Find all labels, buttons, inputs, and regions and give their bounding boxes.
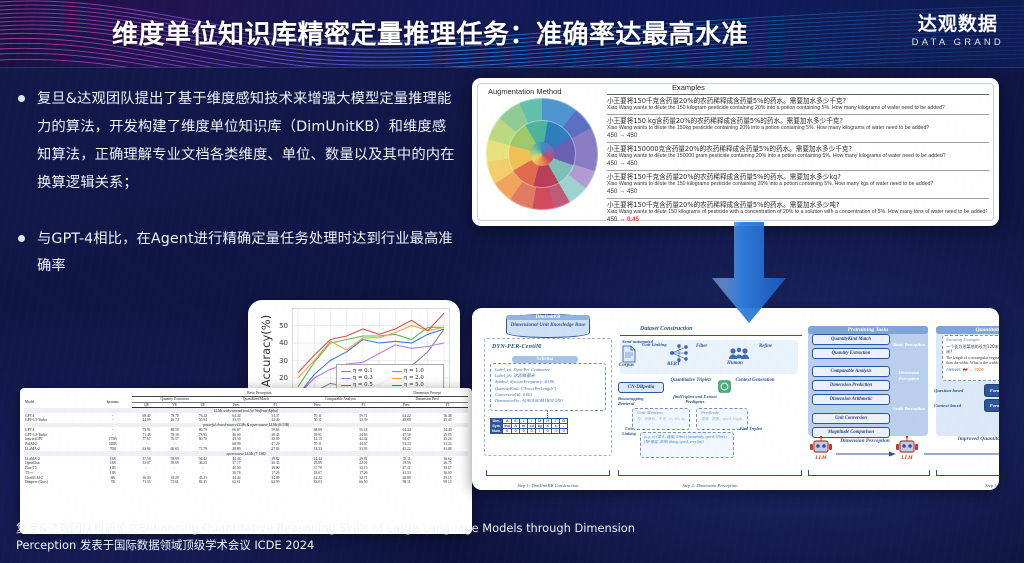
- table-cell: 540B: [93, 442, 132, 447]
- table-cell: 41.33: [386, 471, 427, 476]
- table-cell: 80.59: [161, 427, 189, 432]
- human-label: Human: [727, 361, 743, 366]
- table-cell: 40.00: [217, 466, 256, 471]
- example-en: Xiao Wang wants to dilute the 150 kilogr…: [607, 105, 987, 112]
- col-f1: F1: [256, 402, 295, 408]
- table-row: LLaMA-270B63.9460.6571.7928.8927.0333.33…: [24, 447, 468, 452]
- example-answer-highlight: 0.45: [627, 216, 639, 223]
- section-label: open-source LLMs (7-13B): [24, 451, 468, 456]
- chart-plot-area: [292, 308, 450, 406]
- table-cell: 29.82: [341, 456, 387, 461]
- table-cell: GPT-4: [24, 413, 93, 418]
- table-cell: 68.09: [217, 442, 256, 447]
- example-row: 小王要将150 kg含药量20%的农药稀释成含药量5%的药水。需要加水多少千克?…: [607, 114, 989, 142]
- dim-table-cell: K: [544, 424, 552, 429]
- table-section-header: LLMs with external tool (w/ Wolfram Alph…: [24, 408, 468, 413]
- question-based-label: Question-based: [934, 388, 963, 393]
- llm-label-1: LLM: [808, 455, 834, 461]
- example-cn: 小王要将150 kg含药量20%的农药稀释成含药量5%的药水。需要加水多少千克?: [607, 117, 987, 125]
- kb-title-large: Dimensional Unit Knowledge Base: [508, 322, 588, 329]
- table-cell: 28.89: [386, 475, 427, 480]
- table-cell: 33.07: [132, 461, 160, 466]
- table-cell: 59.09: [161, 456, 189, 461]
- table-cell: 18.67: [295, 471, 341, 476]
- chart-x-tick: 9000: [420, 403, 438, 416]
- triplet-body: (s, p, o) (某人, 速度, 9.9m/s) (somebody, sp…: [641, 433, 733, 446]
- dim-table-row: Num.000010-20: [491, 429, 568, 434]
- pretraining-task-quantitykind-match: QuantityKind Match: [812, 334, 890, 345]
- step3-brace: [936, 470, 999, 476]
- table-cell: 13B: [93, 461, 132, 466]
- table-cell: 70.11: [386, 456, 427, 461]
- chart-y-tick: 20: [279, 374, 288, 382]
- unit-linking-side-label: Unit Linking: [618, 426, 640, 436]
- table-cell: 63.94: [132, 447, 160, 452]
- table-cell: 56.42: [189, 456, 217, 461]
- framework-diagram-card: DimUnitKB Dimensional Unit Knowledge Bas…: [472, 308, 999, 490]
- table-cell: InstructGPT: [24, 437, 93, 442]
- llm-label-2: LLM: [894, 455, 920, 461]
- bullet-item: 与GPT-4相比，在Agent进行精确定量任务处理时达到行业最高准确率: [18, 226, 458, 282]
- dim-table-cell: mol: [503, 424, 512, 429]
- chart-x-tick: 1000: [290, 403, 308, 416]
- example-answer: 450 → 450: [607, 132, 987, 140]
- pretraining-panel: [808, 326, 928, 436]
- table-cell: 76.57: [161, 437, 189, 442]
- answer-new: 7200: [974, 367, 984, 372]
- dim-table-cell: A: [512, 424, 520, 429]
- pretraining-task-dimension-prediction: Dimension Prediction: [812, 380, 890, 391]
- table-cell: -: [161, 466, 189, 471]
- table-cell: 78.18: [161, 432, 189, 437]
- table-cell: 32.99: [256, 437, 295, 442]
- table-row: GPT-3.5-Turbo-71.4878.1878.9546.0038.435…: [24, 432, 468, 437]
- table-cell: 32.71: [341, 475, 387, 480]
- table-cell: 80.70: [189, 437, 217, 442]
- example-en: Xiao Wang wants to dilute the 150 kilogr…: [607, 181, 987, 188]
- augmentation-method-label: Augmentation Method: [488, 87, 561, 96]
- group-comparable-analysis: Comparable Analysis: [295, 396, 386, 402]
- table-cell: 64.44: [386, 427, 427, 432]
- answer-old: 72: [963, 367, 968, 372]
- table-cell: 62.59: [256, 480, 295, 485]
- dim-table-cell: -2: [552, 429, 560, 434]
- dim-table-cell: D: [560, 419, 568, 424]
- table-cell: 39.67: [427, 466, 468, 471]
- example-row: 小王要将150千克含药量20%的农药稀释成含药量5%的药水。需要加水多少千克? …: [607, 94, 989, 114]
- table-cell: 71.79: [189, 447, 217, 452]
- table-cell: 44.44: [217, 456, 256, 461]
- table-cell: 37.77: [217, 461, 256, 466]
- running-example-box: Running Example: 一个长方形菜地的长为120米，长比宽多2/3。…: [942, 335, 999, 381]
- chart-legend-item: η = 1.0: [392, 368, 439, 374]
- table-cell: 59.69: [161, 461, 189, 466]
- table-cell: 38.43: [256, 432, 295, 437]
- schema-field: Label_en: Dyne Per Centimetre: [491, 364, 605, 373]
- augmentation-card-border: [477, 83, 994, 221]
- running-example-cn: 一个长方形菜地的长为120米，长比宽多2/3。这块菜地的宽是多少 米 厘米?: [943, 336, 999, 355]
- table-cell: 53.33: [386, 442, 427, 447]
- brand-logo-cn: 达观数据: [912, 14, 1004, 35]
- schema-field: DimensionVec: AOE0L0I0M1H0T-2D0: [491, 398, 605, 404]
- kb-title-small: DimUnitKB: [506, 315, 590, 320]
- examples-underline: [667, 94, 989, 95]
- table-cell: 175B: [93, 437, 132, 442]
- dim-table-cell: s: [552, 424, 560, 429]
- pretraining-task-dimension-arithmetic: Dimension Arithmetic: [812, 394, 890, 405]
- table-cell: 66.50: [341, 480, 387, 485]
- chart-x-tick: 8000: [404, 403, 422, 416]
- table-cell: 99.11: [386, 480, 427, 485]
- table-cell: ChatGLM-2: [24, 475, 93, 480]
- table-cell: 68.40: [132, 413, 160, 418]
- qmwp-panel: [936, 326, 999, 436]
- filter-label: Filter: [696, 344, 707, 349]
- step3-caption: Step 3: Quantitative Reasoning: [936, 483, 999, 489]
- col-prec: Prec.: [386, 402, 427, 408]
- table-section-header: open-source LLMs (7-13B): [24, 451, 468, 456]
- improved-skills-label: Improved Quantitative Reasoning Skills: [942, 436, 999, 443]
- table-cell: 55.94: [189, 418, 217, 423]
- schema-field: QuantityKind: ["ForcePerLength"]: [491, 386, 605, 392]
- table-cell: GPT-3.5-Turbo: [24, 418, 93, 423]
- table-row: Flan-T511B---40.0036.0037.7832.1547.1139…: [24, 466, 468, 471]
- table-cell: 13B: [93, 456, 132, 461]
- triplet-box: (s, p, o) (某人, 速度, 9.9m/s) (somebody, sp…: [640, 432, 734, 458]
- schema-fields-box: Label_en: Dyne Per Centimetre Label_zh: …: [490, 363, 606, 411]
- table-cell: 82.35: [189, 480, 217, 485]
- chart-x-tick: 6000: [371, 403, 389, 416]
- table-cell: 33.39: [341, 418, 387, 423]
- table-cell: 35.29: [161, 475, 189, 480]
- table-cell: 24.63: [341, 432, 387, 437]
- example-cn: 小王要将150000克含药量20%的农药稀释成含药量5%的药水。需要加水多少千克…: [607, 145, 987, 153]
- chart-x-tick: 4000: [339, 403, 357, 416]
- table-cell: 44.67: [341, 442, 387, 447]
- dim-table-cell: cd: [528, 424, 536, 429]
- semi-automated-label: Semi-automated: [622, 339, 653, 344]
- super-header-basic: Basic Perception: [132, 391, 386, 396]
- table-cell: -: [189, 471, 217, 476]
- chart-y-axis-label: Accuracy(%): [259, 305, 273, 397]
- chart-legend-item: η = 0.3: [341, 375, 388, 381]
- predicate-box: Predicate 速度、质量... speed, length...: [696, 408, 748, 430]
- table-cell: 33.33: [295, 447, 341, 452]
- table-cell: 36.00: [427, 471, 468, 476]
- dim-table-row: Sym.molAmcdkgKs-: [491, 424, 568, 429]
- table-cell: 59.91: [295, 432, 341, 437]
- accuracy-chart: Accuracy(%) Training Step 10002000300040…: [248, 300, 460, 448]
- example-answer: 450 → 450: [607, 188, 987, 196]
- example-row: 小王要将150千克含药量20%的农药稀释成含药量5%的药水。需要加水多少吨? X…: [607, 198, 989, 226]
- table-cell: 31.24: [427, 442, 468, 447]
- table-cell: 32.15: [341, 466, 387, 471]
- chart-y-tick: 10: [279, 392, 288, 400]
- context-generation-label: Context Generation: [734, 378, 776, 384]
- table-group-header-row: Model#paramsQuantity ExtractionQuantKind…: [24, 396, 468, 402]
- down-arrow-icon: [700, 222, 798, 326]
- pretraining-task-quantity-extraction: Quantity Extraction: [812, 348, 890, 359]
- step2-caption: Step 2: Dimension Perception: [618, 483, 802, 489]
- dimension-vector-table: Dim.AELIMHTDSym.molAmcdkgKs-Num.000010-2…: [490, 418, 568, 434]
- chart-x-tick: 7000: [388, 403, 406, 416]
- results-table: Basic PerceptionDimension PerceptModel#p…: [24, 391, 468, 485]
- dim-table-cell: 0: [560, 429, 568, 434]
- table-cell: 6B: [93, 475, 132, 480]
- header-wave-decoration: [0, 0, 1024, 68]
- running-example-en: The length of a rectangular vegetable ga…: [943, 355, 999, 366]
- table-cell: 47.29: [256, 442, 295, 447]
- table-cell: 46.00: [217, 432, 256, 437]
- table-cell: 45.43: [427, 418, 468, 423]
- table-row: T5++11B---38.7617.2618.6717.2641.3336.00: [24, 471, 468, 476]
- table-cell: -: [189, 442, 217, 447]
- table-cell: 60.65: [161, 447, 189, 452]
- dim-table-cell: A: [503, 419, 512, 424]
- col-prec: Prec.: [217, 402, 256, 408]
- pretraining-task-unit-conversion: Unit Conversion: [812, 413, 890, 424]
- chart-legend-label: η = 2.0: [404, 375, 424, 381]
- results-table-wrapper: Basic PerceptionDimension PerceptModel#p…: [20, 388, 472, 534]
- table-cell: 57.58: [132, 456, 160, 461]
- table-cell: GPT-3.5-Turbo: [24, 432, 93, 437]
- chart-y-tick: 40: [279, 339, 288, 347]
- table-cell: 62.61: [217, 480, 256, 485]
- table-cell: 44.44: [217, 475, 256, 480]
- running-example-label: Running Example:: [946, 337, 981, 342]
- dim-table-cell: 0: [520, 429, 528, 434]
- dim-table-cell: 0: [503, 429, 512, 434]
- dataset-divider: [620, 335, 802, 336]
- table-cell: -: [132, 471, 160, 476]
- dim-table-cell: H: [544, 419, 552, 424]
- chart-x-tick: 5000: [355, 403, 373, 416]
- table-row: GPT-4-68.4079.7076.2264.4454.3770.1159.7…: [24, 413, 468, 418]
- step1-brace: [486, 470, 610, 476]
- table-cell: LLaMA-2: [24, 447, 93, 452]
- llm-robot-icon: [896, 436, 918, 456]
- table-cell: 41.08: [427, 447, 468, 452]
- bullet-text: 复旦&达观团队提出了基于维度感知技术来增强大模型定量推理能力的算法，开发构建了维…: [37, 86, 458, 198]
- table-cell: 77.67: [132, 437, 160, 442]
- entity-name: DYN-PER-CentiM: [492, 344, 541, 350]
- results-table-card: Basic PerceptionDimension PerceptModel#p…: [20, 388, 472, 534]
- dim-table-cell: E: [512, 419, 520, 424]
- example-cn: 小王要将150千克含药量20%的农药稀释成含药量5%的药水。需要加水多少吨?: [607, 201, 987, 209]
- table-cell: 59.71: [341, 413, 387, 418]
- table-cell: 29.05: [427, 432, 468, 437]
- dim-table-cell: 0: [512, 429, 520, 434]
- unit-linking-label: Unit Linking: [642, 342, 667, 347]
- step1-panel: [484, 338, 612, 456]
- unit-mention-body: 吨、米每秒、千克... t/s, m/s, kg...: [633, 409, 689, 422]
- table-cell: 47.11: [386, 466, 427, 471]
- table-cell: 62.22: [386, 413, 427, 418]
- table-section-header: powerful closed-source LLMs & open-sourc…: [24, 423, 468, 428]
- col-model: Model: [24, 396, 93, 408]
- table-cell: 28.89: [217, 447, 256, 452]
- col-f1: F1: [341, 402, 387, 408]
- table-cell: 73.61: [161, 480, 189, 485]
- schema-field: ConversionVal: 0.001: [491, 392, 605, 398]
- bullet-text: 与GPT-4相比，在Agent进行精确定量任务处理时达到行业最高准确率: [37, 226, 458, 282]
- table-cell: 36.00: [256, 466, 295, 471]
- table-cell: 73.91: [132, 427, 160, 432]
- slide-root: 维度单位知识库精密定量推理任务：准确率达最高水准 达观数据 DATA GRAND…: [0, 0, 1024, 563]
- sunburst-chart-icon: [486, 98, 598, 210]
- table-row: GPT-3.5-Turbo-44.0946.7455.9433.3332.405…: [24, 418, 468, 423]
- table-cell: 76.22: [189, 413, 217, 418]
- chart-legend-item: η = 0.5: [341, 382, 388, 388]
- table-cell: 31.93: [341, 447, 387, 452]
- group-quantkind-match: QuantKind Match: [217, 396, 295, 402]
- example-en: Xiao Wang wants to dilute the 150kg pest…: [607, 125, 987, 132]
- table-cell: 17.26: [341, 471, 387, 476]
- dimension-perception-arrow-label: Dimension Perception: [838, 438, 892, 445]
- table-cell: 28.89: [295, 461, 341, 466]
- table-cell: 24.44: [295, 456, 341, 461]
- table-cell: 38.76: [217, 471, 256, 476]
- table-cell: PaLM-2: [24, 442, 93, 447]
- find-triplets-label: Find Triplets: [738, 426, 764, 431]
- table-cell: 27.03: [256, 447, 295, 452]
- table-cell: LLaMA-2: [24, 456, 93, 461]
- table-cell: 19.56: [386, 461, 427, 466]
- quantitative-triplets-label: Quantitative Triplets: [668, 378, 714, 384]
- bootstrapping-label: Bootstrapping Retrieval: [618, 396, 658, 407]
- table-cell: 42.22: [386, 447, 427, 452]
- col-prec: Prec.: [295, 402, 341, 408]
- bert-network-icon: [668, 344, 690, 362]
- table-cell: 11B: [93, 471, 132, 476]
- table-cell: 30.33: [256, 461, 295, 466]
- table-cell: 50.11: [295, 418, 341, 423]
- table-cell: -: [93, 413, 132, 418]
- chart-y-ticks: 1020304050: [258, 308, 290, 406]
- group-dimension-pred: Dimension Pred: [386, 396, 468, 402]
- dim-table-cell: L: [520, 419, 528, 424]
- refine-label: Refine: [759, 344, 772, 349]
- pretraining-task-comparable-analysis: Comparable Analysis: [812, 366, 890, 377]
- examples-label: Examples: [672, 83, 705, 92]
- chart-legend-label: η = 5.0: [404, 382, 424, 388]
- super-header-dimension: Dimension Percept: [386, 391, 468, 396]
- dim-table-cell: 0: [544, 429, 552, 434]
- bullet-dot-icon: [18, 235, 25, 242]
- arrow-right-2-icon: [924, 451, 999, 457]
- table-cell: 54.47: [386, 437, 427, 442]
- table-cell: 56.48: [427, 413, 468, 418]
- table-cell: 99.13: [427, 480, 468, 485]
- bert-label: BERT: [667, 362, 680, 367]
- dim-table-cell: T: [552, 419, 560, 424]
- table-cell: 70B: [93, 447, 132, 452]
- table-column-header-row: QEVEUEPrec.F1Prec.F1Prec.F1: [24, 402, 468, 408]
- slide-header: 维度单位知识库精密定量推理任务：准确率达最高水准 达观数据 DATA GRAND: [0, 0, 1024, 68]
- table-row: GPT-4-73.9180.5980.7966.6759.6368.0955.1…: [24, 427, 468, 432]
- human-group-icon: [728, 347, 750, 361]
- example-row: 小王要将150千克含药量20%的农药稀释成含药量5%的药水。需要加水多少kg? …: [607, 170, 989, 198]
- pretraining-title: Pretraining Tasks: [808, 326, 928, 334]
- table-cell: 37.78: [295, 466, 341, 471]
- table-cell: -: [161, 442, 189, 447]
- chart-legend-label: η = 0.5: [353, 382, 373, 388]
- section-label: LLMs with external tool (w/ Wolfram Alph…: [24, 408, 468, 413]
- table-cell: -: [132, 466, 160, 471]
- table-row: InstructGPT175B77.6776.5780.7049.5032.99…: [24, 437, 468, 442]
- group-quantity-extraction: Quantity Extraction: [132, 396, 217, 402]
- example-en: Xiao Wang wants to dilute the 150000 gra…: [607, 153, 987, 160]
- table-cell: 47.56: [386, 432, 427, 437]
- running-example-answer: Answer: 72 → 7200: [943, 366, 999, 373]
- table-cell: 11B: [93, 466, 132, 471]
- slide-caption: 复旦&达观团队科研论文Enhancing Quantitative Reason…: [16, 520, 656, 555]
- dim-table-cell: 0: [528, 429, 536, 434]
- table-cell: 68.09: [295, 427, 341, 432]
- table-cell: -: [189, 466, 217, 471]
- table-cell: Flan-T5: [24, 466, 93, 471]
- col-qe: QE: [132, 402, 160, 408]
- step3a-brace: [808, 470, 930, 476]
- bullet-item: 复旦&达观团队提出了基于维度感知技术来增强大模型定量推理能力的算法，开发构建了维…: [18, 86, 458, 198]
- arrow-right-1-icon: [836, 451, 896, 457]
- qmwp-title: Quantitative Math Word Problem: [936, 326, 999, 334]
- table-cell: -: [93, 427, 132, 432]
- chart-x-tick: 2000: [306, 403, 324, 416]
- table-cell: 55.18: [341, 427, 387, 432]
- dim-table-head: Dim.: [491, 419, 503, 424]
- table-cell: -: [93, 432, 132, 437]
- unit-mention-title: Unit Mention: [637, 410, 663, 415]
- col-params: #params: [93, 396, 132, 408]
- schema-field: Label_zh: 达因每厘米: [491, 373, 605, 379]
- step1-caption: Step 1: DimUnitKB Construction: [486, 483, 610, 489]
- table-cell: 36.30: [132, 475, 160, 480]
- table-cell: 34.09: [256, 475, 295, 480]
- table-cell: 42.15: [295, 437, 341, 442]
- dim-table-cell: -: [560, 424, 568, 429]
- table-cell: 17.26: [256, 471, 295, 476]
- chart-x-axis-label: Training Step: [248, 428, 460, 443]
- table-cell: 43.24: [427, 437, 468, 442]
- brand-logo: 达观数据 DATA GRAND: [912, 14, 1004, 48]
- format-substitution-q: Format Substitution: [984, 384, 999, 397]
- table-cell: 79.70: [161, 413, 189, 418]
- dimunitkb-cylinder: [506, 314, 590, 338]
- chart-legend-label: η = 0.1: [353, 368, 373, 374]
- table-cell: -: [93, 418, 132, 423]
- table-cell: -: [132, 442, 160, 447]
- context-based-label: Context-based: [934, 403, 961, 408]
- predicate-body: 速度、质量... speed, length...: [697, 409, 747, 422]
- schema-field: Symbol: dyn/cm Frequency: 40.96: [491, 379, 605, 385]
- chart-x-tick: 10000: [436, 403, 454, 416]
- dim-table-cell: kg: [536, 424, 544, 429]
- table-cell: 39.82: [256, 456, 295, 461]
- table-cell: 7B: [93, 480, 132, 485]
- table-super-header-row: Basic PerceptionDimension Percept: [24, 391, 468, 396]
- example-cn: 小王要将150千克含药量20%的农药稀释成含药量5%的药水。需要加水多少kg?: [607, 173, 987, 181]
- dim-table-cell: m: [520, 424, 528, 429]
- table-cell: 66.67: [217, 427, 256, 432]
- format-substitution-c: Format Substitution: [984, 399, 999, 412]
- dataset-construction-title: Dataset Construction: [640, 326, 693, 332]
- chart-legend-label: η = 0.3: [353, 375, 373, 381]
- table-cell: 44.09: [132, 418, 160, 423]
- predicate-title: Predicate: [701, 410, 719, 415]
- context-generation-icon: [718, 380, 731, 393]
- chart-legend-item: η = 5.0: [392, 382, 439, 388]
